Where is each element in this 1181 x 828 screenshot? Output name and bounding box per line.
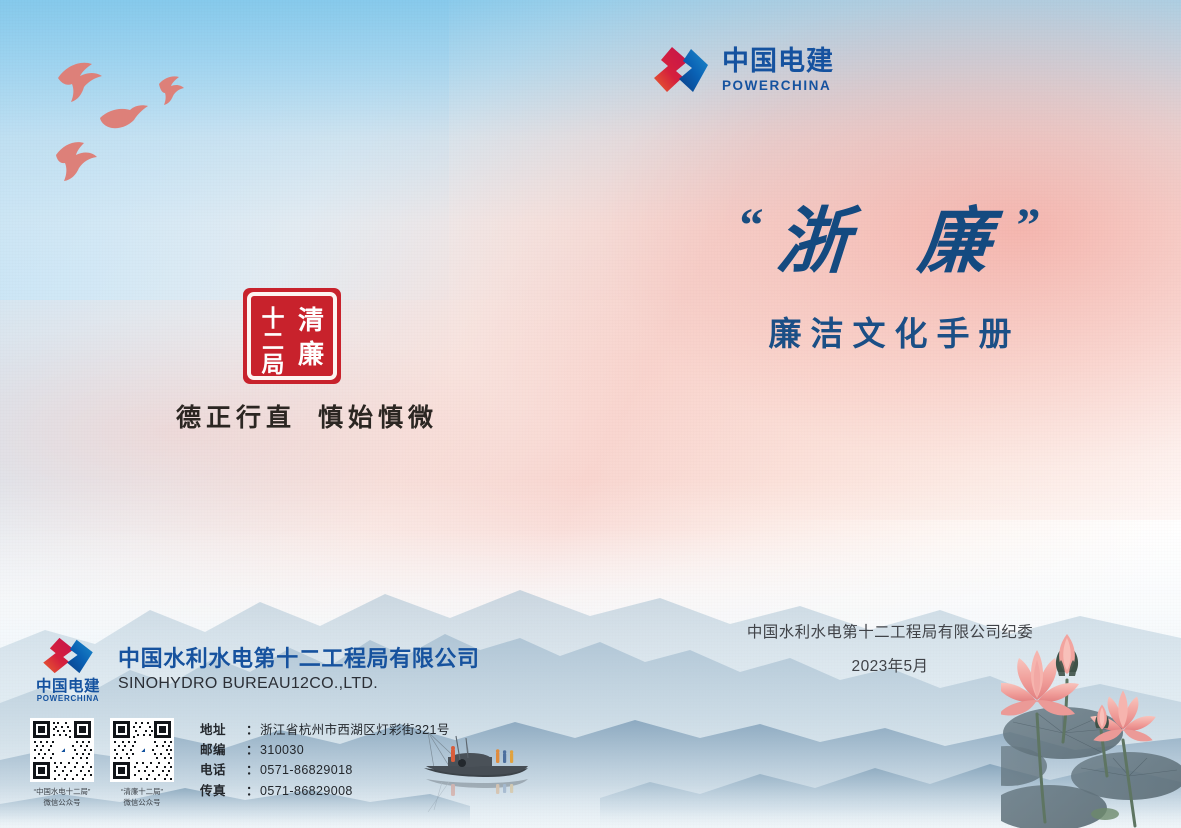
svg-text:清: 清 xyxy=(298,306,324,336)
footer-company-cn: 中国水利水电第十二工程局有限公司 xyxy=(118,646,480,671)
qr-code-icon[interactable] xyxy=(110,718,174,782)
qr-caption-line1: “清廉十二局” xyxy=(110,787,174,798)
brochure-cover: 中国电建 POWERCHINA 十 清 二 廉 局 德正行直慎始慎微 “ 浙 廉… xyxy=(0,0,1181,828)
footer-company-row: 中国电建 POWERCHINA 中国水利水电第十二工程局有限公司 SINOHYD… xyxy=(30,636,500,704)
footer-block: 中国电建 POWERCHINA 中国水利水电第十二工程局有限公司 SINOHYD… xyxy=(30,636,500,808)
contact-label: 邮编 xyxy=(200,740,246,760)
contact-row-fax: 传真 ： 0571-86829008 xyxy=(200,781,450,801)
qr-caption-line2: 微信公众号 xyxy=(30,798,94,809)
contact-value: 310030 xyxy=(260,740,304,760)
powerchina-mark-icon xyxy=(40,636,96,676)
flying-birds-decoration xyxy=(38,40,208,190)
qr-caption-line2: 微信公众号 xyxy=(110,798,174,809)
bird-icon xyxy=(100,105,148,128)
contact-row-postcode: 邮编 ： 310030 xyxy=(200,740,450,760)
qr-code-group: “中国水电十二局” 微信公众号 xyxy=(30,718,174,808)
quote-open: “ xyxy=(739,205,763,247)
motto-part-2: 慎始慎微 xyxy=(318,403,438,432)
contact-info-block: 地址 ： 浙江省杭州市西湖区灯彩街321号 邮编 ： 310030 电话 ： 0… xyxy=(200,720,450,801)
cover-title-block: “ 浙 廉 ” 廉洁文化手册 xyxy=(735,205,1045,355)
contact-value: 0571-86829008 xyxy=(260,781,353,801)
powerchina-logo-header: 中国电建 POWERCHINA xyxy=(652,44,834,96)
contact-label: 电话 xyxy=(200,760,246,780)
qr-caption: “清廉十二局” 微信公众号 xyxy=(110,787,174,808)
contact-row-address: 地址 ： 浙江省杭州市西湖区灯彩街321号 xyxy=(200,720,450,740)
contact-label: 传真 xyxy=(200,781,246,801)
powerchina-logo-cn: 中国电建 xyxy=(722,48,834,75)
powerchina-mark-icon xyxy=(652,44,710,96)
qr-caption-line1: “中国水电十二局” xyxy=(30,787,94,798)
main-title-text: 浙 廉 xyxy=(765,205,1015,277)
footer-logo-en: POWERCHINA xyxy=(30,695,106,704)
qr-code-item[interactable]: “中国水电十二局” 微信公众号 xyxy=(30,718,94,808)
qr-code-item[interactable]: “清廉十二局” 微信公众号 xyxy=(110,718,174,808)
qr-code-icon[interactable] xyxy=(30,718,94,782)
svg-text:局: 局 xyxy=(262,351,285,378)
footer-powerchina-logo: 中国电建 POWERCHINA xyxy=(30,636,106,704)
contact-value: 0571-86829018 xyxy=(260,760,353,780)
main-title: “ 浙 廉 ” xyxy=(735,205,1045,277)
motto-text: 德正行直慎始慎微 xyxy=(176,398,438,434)
contact-colon: ： xyxy=(246,720,260,740)
bird-icon xyxy=(159,76,184,105)
contact-colon: ： xyxy=(246,740,260,760)
svg-text:廉: 廉 xyxy=(298,339,324,370)
issuer-date: 2023年5月 xyxy=(735,654,1045,676)
contact-label: 地址 xyxy=(200,720,246,740)
footer-company-names: 中国水利水电第十二工程局有限公司 SINOHYDRO BUREAU12CO.,L… xyxy=(118,646,480,694)
bird-icon xyxy=(56,142,97,181)
footer-lower-row: “中国水电十二局” 微信公众号 xyxy=(30,718,500,808)
svg-text:十: 十 xyxy=(262,305,285,332)
motto-part-1: 德正行直 xyxy=(176,403,296,432)
footer-company-en: SINOHYDRO BUREAU12CO.,LTD. xyxy=(118,675,480,693)
bird-icon xyxy=(58,63,102,102)
issuer-block: 中国水利水电第十二工程局有限公司纪委 2023年5月 xyxy=(735,620,1045,676)
contact-colon: ： xyxy=(246,760,260,780)
footer-logo-cn: 中国电建 xyxy=(30,678,106,695)
qr-caption: “中国水电十二局” 微信公众号 xyxy=(30,787,94,808)
sub-title-text: 廉洁文化手册 xyxy=(735,307,1045,355)
contact-colon: ： xyxy=(246,781,260,801)
powerchina-logo-en: POWERCHINA xyxy=(722,79,834,93)
quote-close: ” xyxy=(1017,205,1041,247)
contact-row-phone: 电话 ： 0571-86829018 xyxy=(200,760,450,780)
contact-value: 浙江省杭州市西湖区灯彩街321号 xyxy=(260,720,450,740)
qinglian-seal-stamp: 十 清 二 廉 局 xyxy=(240,285,344,387)
issuer-organization: 中国水利水电第十二工程局有限公司纪委 xyxy=(735,620,1045,642)
